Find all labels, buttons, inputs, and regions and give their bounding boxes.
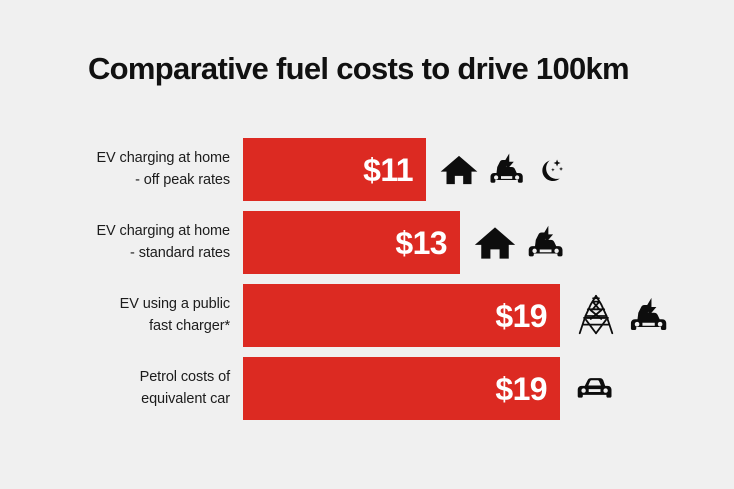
row-label-line-2: - standard rates — [130, 243, 230, 264]
row-label-line-2: equivalent car — [141, 389, 230, 410]
row-label-ev-public-fast-charger: EV using a public fast charger* — [60, 284, 230, 347]
chart-row: EV charging at home - standard rates $13 — [0, 211, 734, 274]
icon-cluster — [560, 284, 672, 347]
bar-ev-public-fast-charger: $19 — [243, 284, 560, 347]
chart-row: EV using a public fast charger* $19 — [0, 284, 734, 347]
bar-track: $11 — [243, 138, 713, 201]
bar-track: $19 — [243, 284, 713, 347]
home-icon — [439, 150, 479, 190]
ev-car-icon — [524, 221, 568, 265]
bar-value-label: $19 — [495, 373, 547, 405]
infographic-canvas: Comparative fuel costs to drive 100km EV… — [0, 0, 734, 489]
bar-track: $19 — [243, 357, 713, 420]
bar-chart: EV charging at home - off peak rates $11 — [0, 138, 734, 430]
row-label-ev-home-standard: EV charging at home - standard rates — [60, 211, 230, 274]
bar-ev-home-standard: $13 — [243, 211, 460, 274]
row-label-line-1: EV charging at home — [96, 221, 230, 242]
petrol-car-icon — [573, 367, 617, 411]
icon-cluster — [560, 357, 617, 420]
page-title: Comparative fuel costs to drive 100km — [88, 52, 688, 86]
bar-petrol-equivalent-car: $19 — [243, 357, 560, 420]
home-icon — [473, 221, 517, 265]
bar-ev-home-offpeak: $11 — [243, 138, 426, 201]
chart-row: Petrol costs of equivalent car $19 — [0, 357, 734, 420]
bar-value-label: $19 — [495, 300, 547, 332]
row-label-line-1: EV charging at home — [96, 148, 230, 169]
bar-value-label: $13 — [395, 227, 447, 259]
row-label-line-2: - off peak rates — [135, 170, 230, 191]
row-label-line-2: fast charger* — [149, 316, 230, 337]
row-label-line-1: EV using a public — [120, 294, 230, 315]
icon-cluster — [426, 138, 563, 201]
ev-car-icon — [486, 149, 528, 191]
row-label-ev-home-offpeak: EV charging at home - off peak rates — [60, 138, 230, 201]
row-label-petrol-equivalent-car: Petrol costs of equivalent car — [60, 357, 230, 420]
power-pylon-icon — [573, 293, 619, 339]
icon-cluster — [460, 211, 568, 274]
bar-track: $13 — [243, 211, 713, 274]
ev-car-icon — [626, 293, 672, 339]
moon-stars-icon — [535, 156, 563, 184]
chart-row: EV charging at home - off peak rates $11 — [0, 138, 734, 201]
bar-value-label: $11 — [363, 154, 413, 186]
row-label-line-1: Petrol costs of — [140, 367, 230, 388]
